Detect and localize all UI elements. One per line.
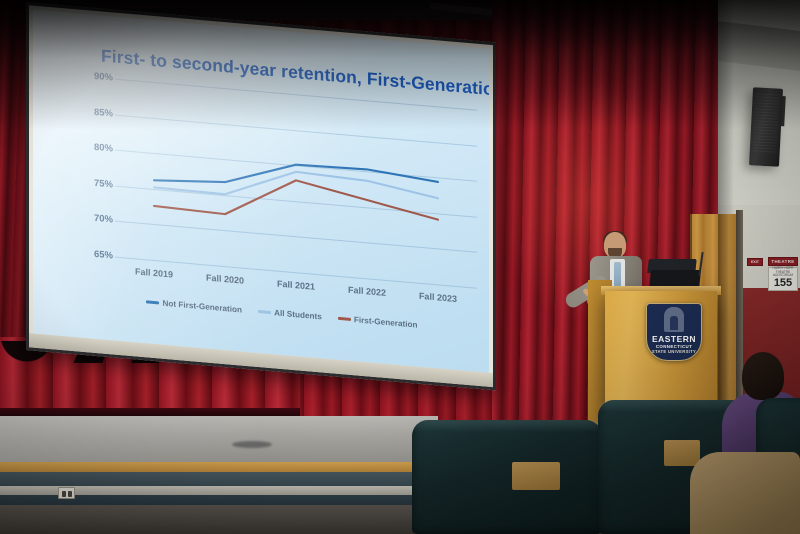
wall-corner-shadow (718, 0, 734, 420)
seat-top-edge (412, 420, 602, 432)
university-crest-logo: EASTERN CONNECTICUT STATE UNIVERSITY (646, 303, 702, 361)
chart-series-lines (85, 72, 477, 314)
stage-floor-sheen (0, 416, 438, 468)
projection-screen: First- to second-year retention, First-G… (26, 2, 496, 390)
chart-line-not-first-generation (154, 151, 438, 205)
power-outlet-icon (58, 487, 75, 499)
audience-member-head (742, 352, 784, 400)
legend-item: Not First-Generation (146, 297, 242, 314)
auditorium-presentation-scene: EXIT THEATRE HARRY HOPE THEATRE AUDITORI… (0, 0, 800, 534)
retention-line-chart: 65%70%75%80%85%90% Fall 2019Fall 2020Fal… (85, 72, 477, 314)
chart-line-all-students (154, 160, 438, 213)
room-number: 155 (774, 278, 792, 289)
crest-line-3: STATE UNIVERSITY (652, 349, 696, 354)
seat-back-panel (512, 462, 560, 490)
wall-mounted-loudspeaker (749, 87, 783, 166)
legend-item: All Students (258, 307, 322, 321)
legend-label: First-Generation (354, 315, 418, 329)
legend-item: First-Generation (338, 314, 418, 330)
exit-sign: EXIT (747, 258, 763, 266)
crest-line-1: EASTERN (652, 334, 696, 344)
legend-swatch (258, 310, 271, 313)
stage-floor-scuff (232, 441, 272, 448)
crest-tower-icon (664, 307, 684, 332)
room-number-sign: HARRY HOPE THEATRE AUDITORIUM 155 (768, 267, 798, 291)
legend-swatch (338, 317, 351, 320)
speaker-grille-mesh (753, 91, 780, 152)
door-frame (736, 210, 743, 420)
seat-back-panel (664, 440, 700, 466)
projection-screen-surface: First- to second-year retention, First-G… (33, 10, 489, 373)
theatre-sign: THEATRE (768, 257, 798, 266)
legend-swatch (146, 301, 159, 304)
slide: First- to second-year retention, First-G… (33, 10, 489, 373)
legend-label: All Students (274, 308, 322, 321)
auditorium-seat (412, 420, 602, 534)
seat-armrest (690, 452, 800, 534)
legend-label: Not First-Generation (162, 299, 242, 315)
chart-line-first-generation (154, 168, 438, 232)
